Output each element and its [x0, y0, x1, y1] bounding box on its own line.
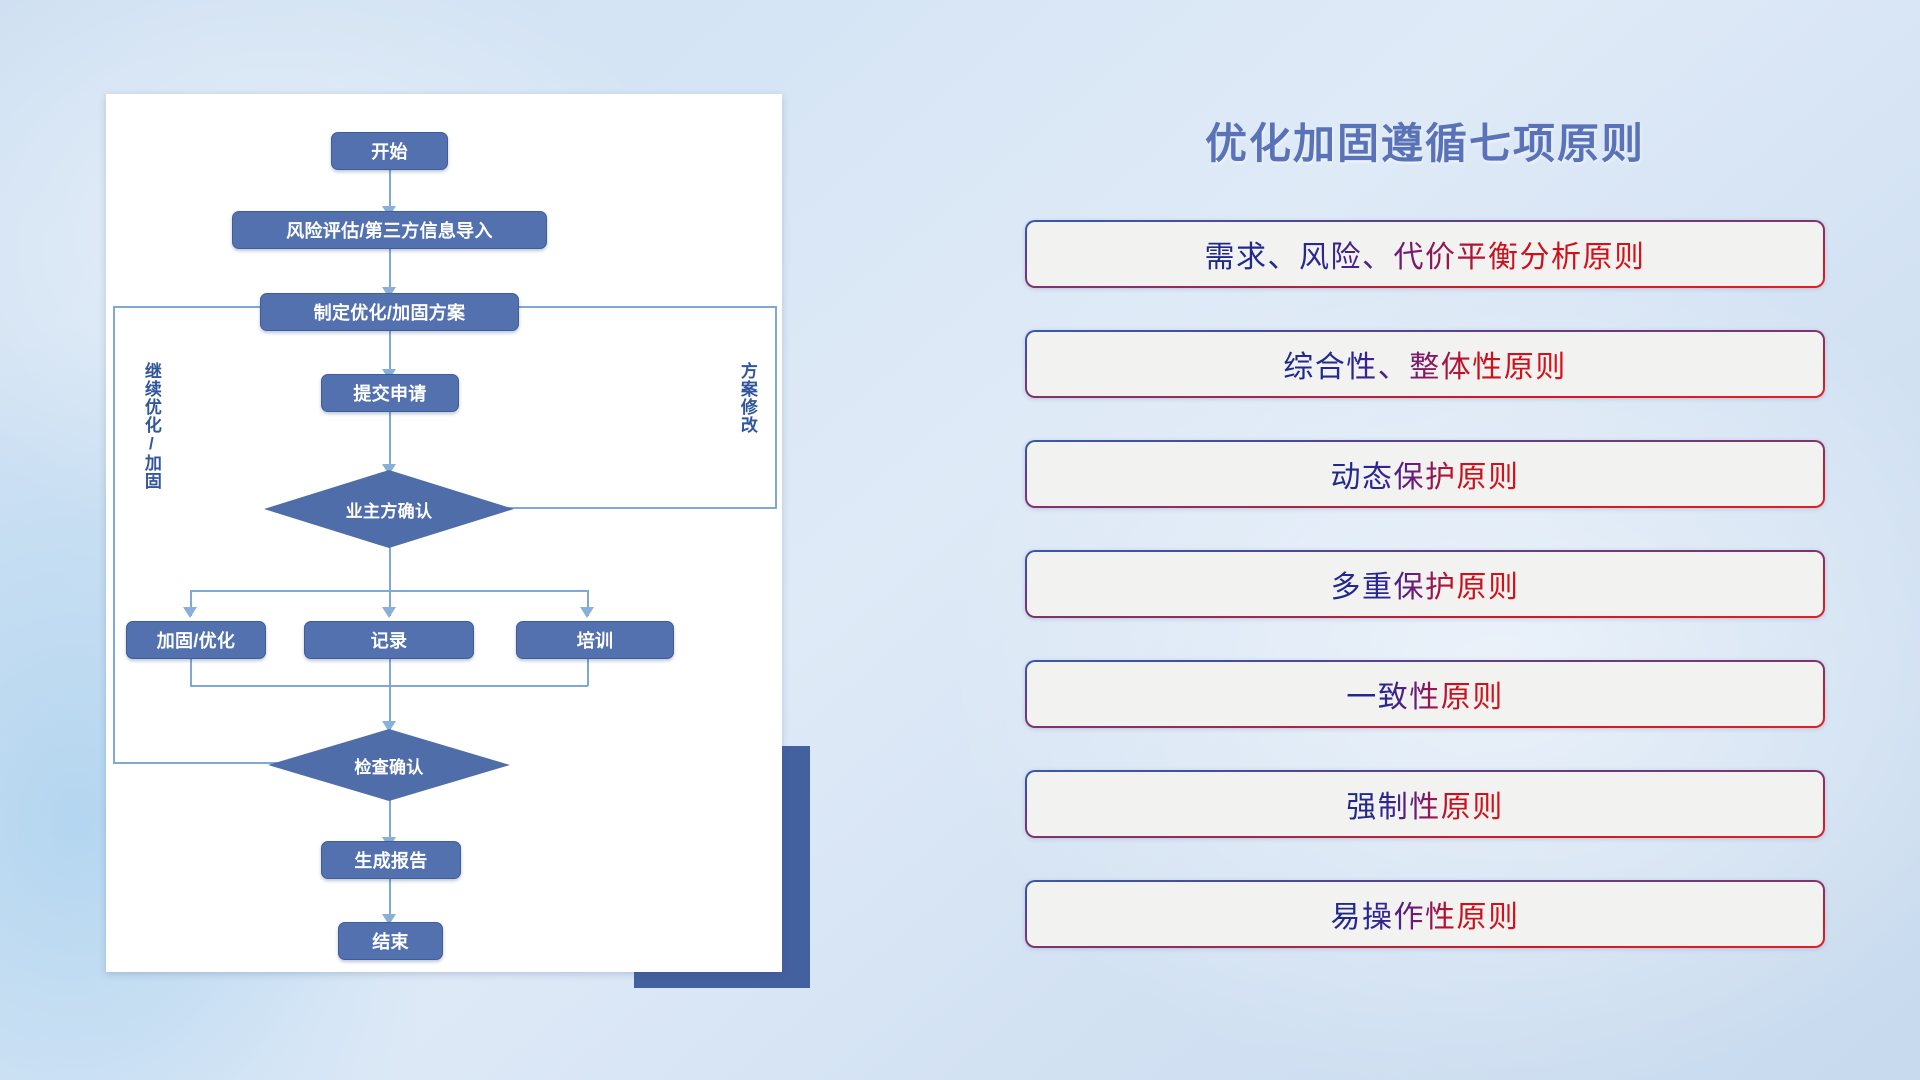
principle-card-label: 动态保护原则 [1331, 452, 1520, 496]
principle-card-label: 需求、风险、代价平衡分析原则 [1205, 232, 1646, 276]
principle-card-label: 易操作性原则 [1331, 892, 1520, 936]
principle-card-3[interactable]: 动态保护原则 [1025, 440, 1825, 508]
principle-card-inner: 综合性、整体性原则 [1027, 332, 1823, 396]
principle-card-inner: 多重保护原则 [1027, 552, 1823, 616]
principle-card-inner: 一致性原则 [1027, 662, 1823, 726]
flow-node-record[interactable]: 记录 [304, 621, 474, 659]
edge-label-left-loop: 继续优化/加固 [142, 362, 160, 490]
principle-list: 需求、风险、代价平衡分析原则 综合性、整体性原则 动态保护原则 多重保护原则 一… [1025, 220, 1825, 990]
principle-card-label: 强制性原则 [1346, 782, 1504, 826]
connector-right-loop-bottom [490, 507, 777, 509]
principle-card-label: 综合性、整体性原则 [1283, 342, 1567, 386]
flow-node-reinforce[interactable]: 加固/优化 [126, 621, 266, 659]
flow-node-check-confirm-label: 检查确认 [354, 753, 423, 778]
arrow-down-icon [580, 607, 594, 618]
principle-card-5[interactable]: 一致性原则 [1025, 660, 1825, 728]
flow-node-end[interactable]: 结束 [338, 922, 443, 960]
connector-right-loop-riser [775, 306, 777, 508]
connector-fanin-left [190, 658, 192, 686]
flow-node-generate-report[interactable]: 生成报告 [321, 841, 461, 879]
arrow-down-icon [183, 607, 197, 618]
principle-card-inner: 易操作性原则 [1027, 882, 1823, 946]
flow-node-risk-assessment[interactable]: 风险评估/第三方信息导入 [232, 211, 547, 249]
flowchart-panel: 继续优化/加固 方案修改 开始 风险评估/第三方信息导入 制定优化/加固方案 提… [106, 94, 782, 972]
principle-card-7[interactable]: 易操作性原则 [1025, 880, 1825, 948]
connector-owner-down [389, 546, 391, 591]
edge-label-right-loop: 方案修改 [738, 362, 756, 434]
principle-card-inner: 动态保护原则 [1027, 442, 1823, 506]
principle-card-2[interactable]: 综合性、整体性原则 [1025, 330, 1825, 398]
arrow-down-icon [382, 607, 396, 618]
connector-record-to-check [389, 658, 391, 730]
flow-node-check-confirm[interactable]: 检查确认 [268, 729, 510, 801]
principle-card-label: 一致性原则 [1346, 672, 1504, 716]
flow-node-owner-confirm-label: 业主方确认 [346, 497, 433, 522]
flow-node-submit-application[interactable]: 提交申请 [321, 374, 459, 412]
principles-panel: 优化加固遵循七项原则 需求、风险、代价平衡分析原则 综合性、整体性原则 动态保护… [1010, 96, 1840, 996]
flow-node-training[interactable]: 培训 [516, 621, 674, 659]
principle-card-inner: 需求、风险、代价平衡分析原则 [1027, 222, 1823, 286]
flow-node-owner-confirm[interactable]: 业主方确认 [264, 470, 514, 548]
connector-fanin-right [587, 658, 589, 686]
flowchart-canvas: 继续优化/加固 方案修改 开始 风险评估/第三方信息导入 制定优化/加固方案 提… [106, 94, 782, 972]
principle-card-4[interactable]: 多重保护原则 [1025, 550, 1825, 618]
connector-right-loop-top [499, 306, 776, 308]
principle-card-1[interactable]: 需求、风险、代价平衡分析原则 [1025, 220, 1825, 288]
page-title: 优化加固遵循七项原则 [1010, 110, 1840, 171]
principle-card-label: 多重保护原则 [1331, 562, 1520, 606]
connector-submit-to-owner [389, 411, 391, 471]
principle-card-inner: 强制性原则 [1027, 772, 1823, 836]
flow-node-plan[interactable]: 制定优化/加固方案 [260, 293, 519, 331]
principle-card-6[interactable]: 强制性原则 [1025, 770, 1825, 838]
flow-node-start[interactable]: 开始 [331, 132, 448, 170]
connector-left-loop-riser [113, 306, 115, 763]
